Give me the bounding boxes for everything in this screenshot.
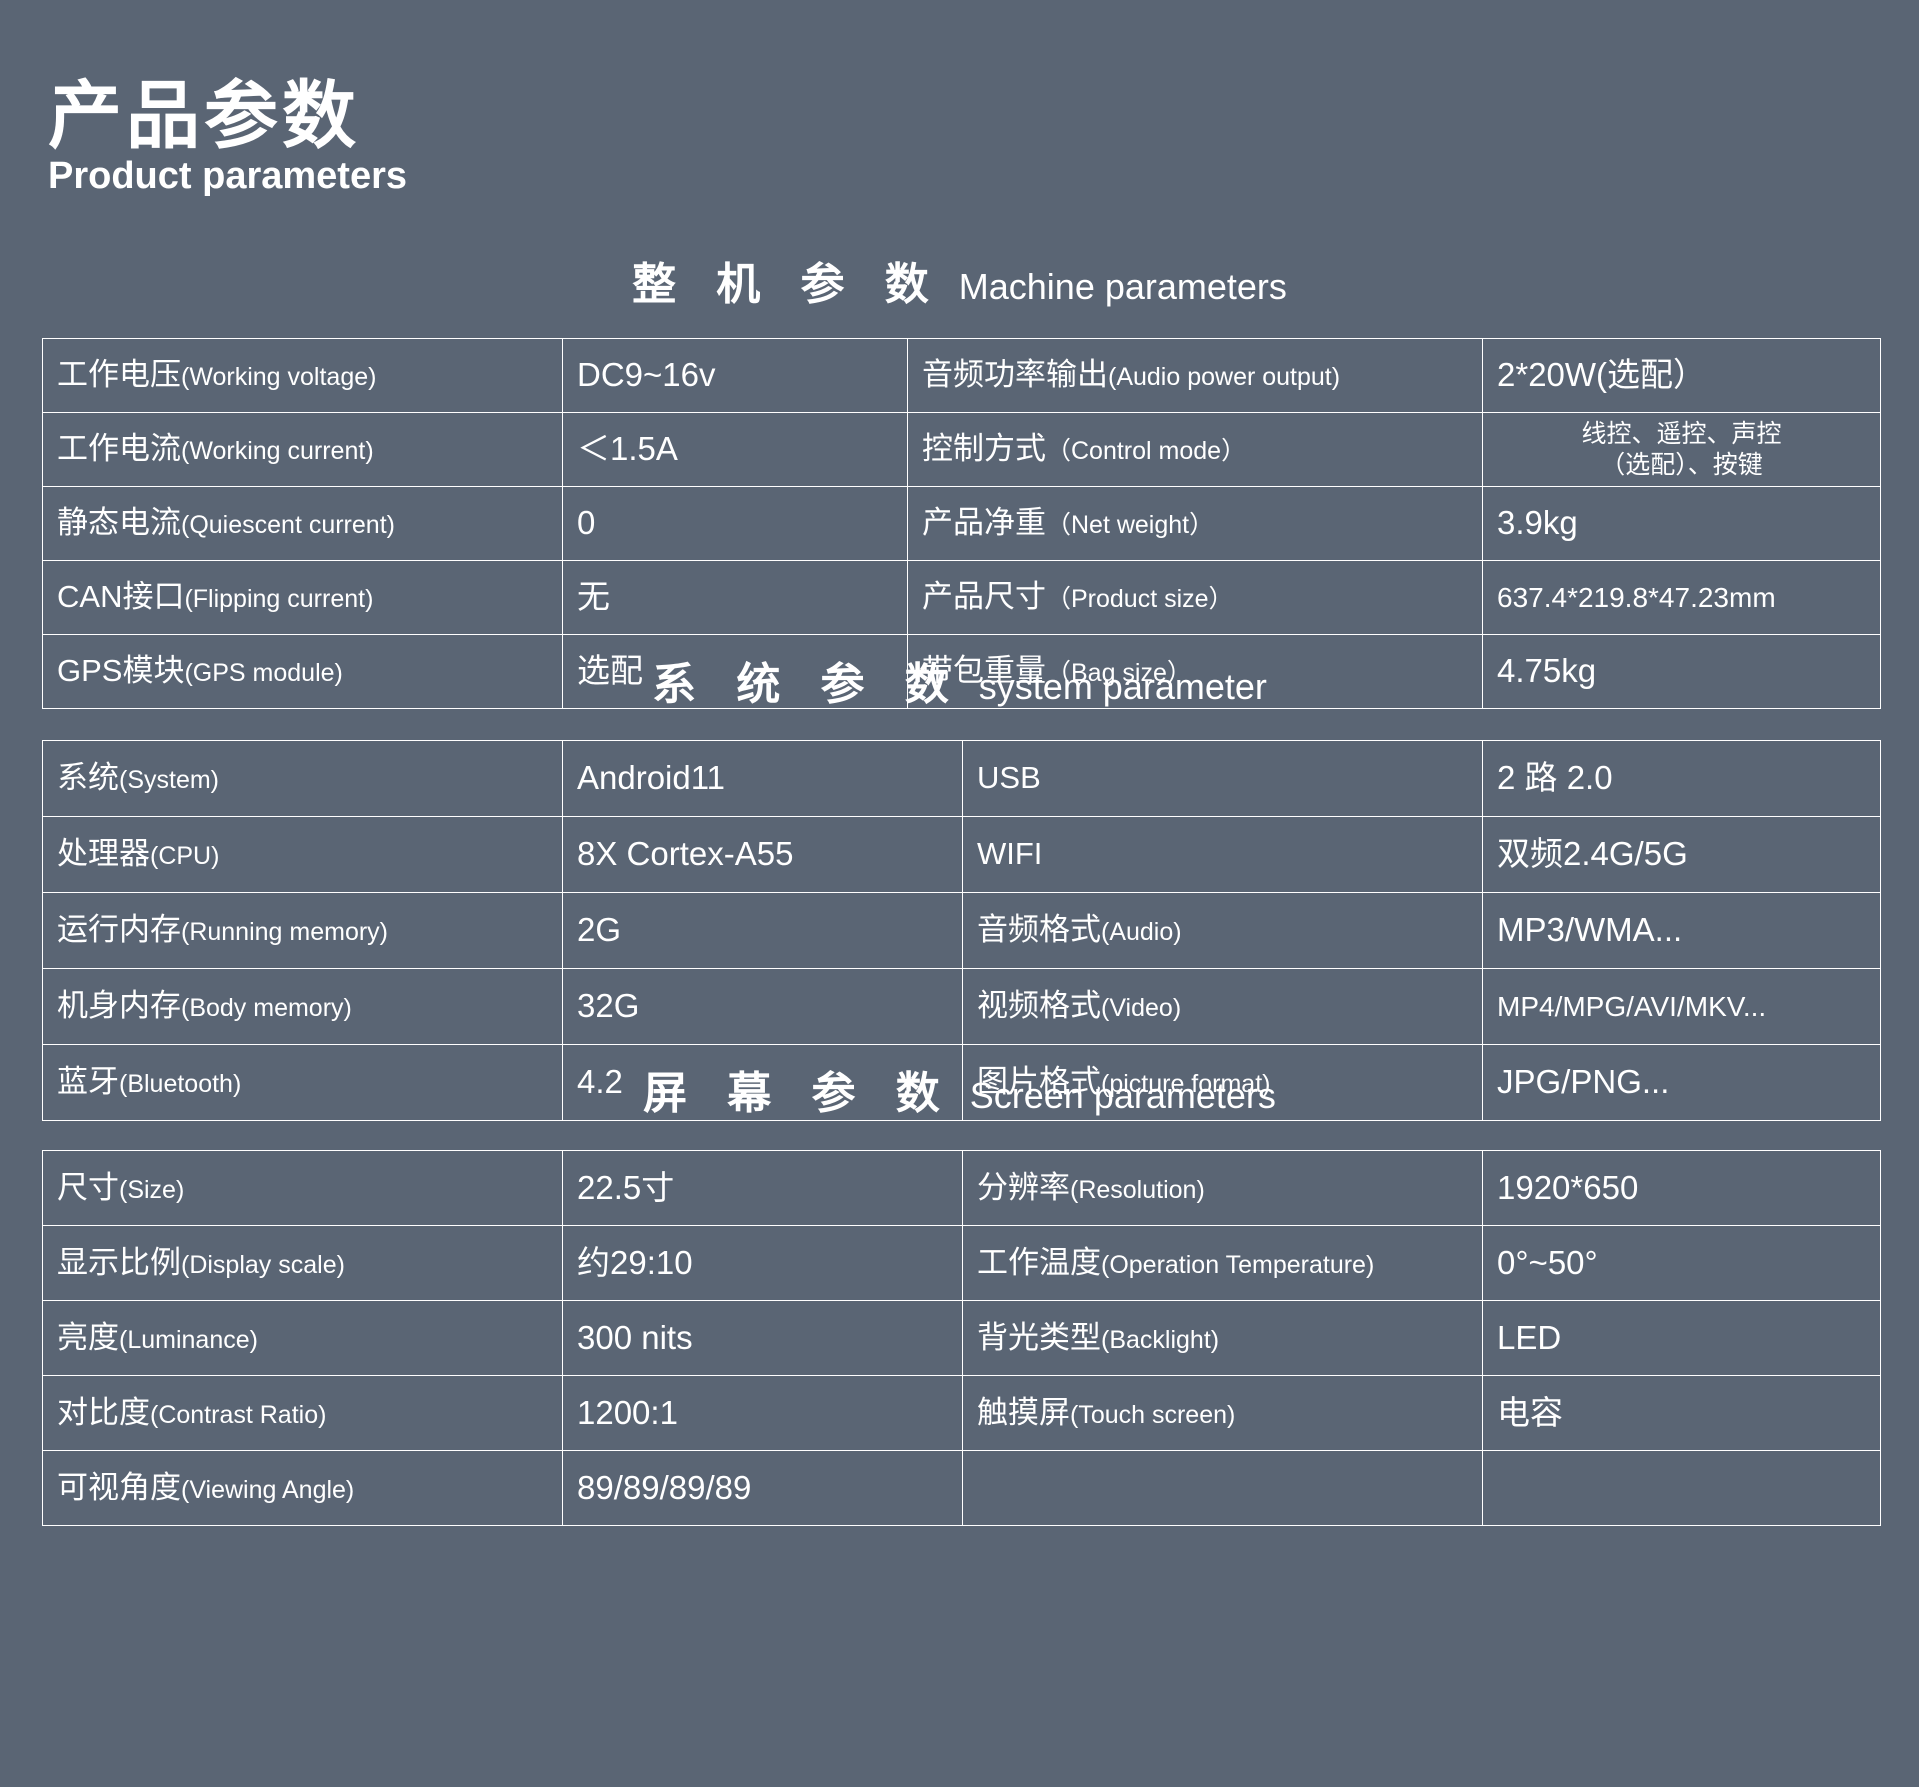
row-value: Android11	[563, 741, 963, 817]
row-label: 工作电流(Working current)	[43, 413, 563, 487]
value-line-2: （选配）、按键	[1497, 450, 1866, 481]
row-label-2: 背光类型(Backlight)	[963, 1301, 1483, 1376]
section-header-machine-cn: 整 机 参 数	[632, 248, 943, 312]
label-cn: 处理器	[57, 836, 150, 871]
table-row: 对比度(Contrast Ratio) 1200:1 触摸屏(Touch scr…	[43, 1376, 1881, 1451]
row-label: 机身内存(Body memory)	[43, 969, 563, 1045]
label-cn: 运行内存	[57, 912, 181, 947]
row-value-2: MP3/WMA...	[1483, 893, 1881, 969]
label-en: (Quiescent current)	[181, 511, 395, 539]
row-value-2: LED	[1483, 1301, 1881, 1376]
table-row: 亮度(Luminance) 300 nits 背光类型(Backlight) L…	[43, 1301, 1881, 1376]
label2-cn: USB	[977, 760, 1041, 795]
label-cn: 系统	[57, 760, 119, 795]
row-value: 300 nits	[563, 1301, 963, 1376]
label-cn: 亮度	[57, 1320, 119, 1355]
table-row: 显示比例(Display scale) 约29:10 工作温度(Operatio…	[43, 1226, 1881, 1301]
label-cn: 静态电流	[57, 505, 181, 540]
value-line-1: 线控、遥控、声控	[1497, 419, 1866, 450]
row-value: 无	[563, 561, 908, 635]
label-en: (Flipping current)	[184, 585, 373, 613]
row-label: 处理器(CPU)	[43, 817, 563, 893]
row-value: DC9~16v	[563, 339, 908, 413]
row-label-2: 触摸屏(Touch screen)	[963, 1376, 1483, 1451]
label-cn: 可视角度	[57, 1470, 181, 1505]
table-row: 工作电流(Working current) ＜1.5A 控制方式（Control…	[43, 413, 1881, 487]
row-label-2: 产品尺寸（Product size）	[908, 561, 1483, 635]
row-value: 32G	[563, 969, 963, 1045]
label-cn: 机身内存	[57, 988, 181, 1023]
row-label-2-empty	[963, 1451, 1483, 1526]
label-en: (Working voltage)	[181, 363, 376, 391]
label-en: (Body memory)	[181, 994, 352, 1022]
row-value: 2G	[563, 893, 963, 969]
label-en: (System)	[119, 766, 219, 794]
row-value-2: 2*20W(选配）	[1483, 339, 1881, 413]
label2-cn: 触摸屏	[977, 1395, 1070, 1430]
section-header-machine-en: Machine parameters	[959, 266, 1287, 308]
row-value-2: MP4/MPG/AVI/MKV...	[1483, 969, 1881, 1045]
row-label: 静态电流(Quiescent current)	[43, 487, 563, 561]
row-value: 89/89/89/89	[563, 1451, 963, 1526]
row-value-2: 0°~50°	[1483, 1226, 1881, 1301]
label-cn: 工作电压	[57, 357, 181, 392]
label2-en: （Net weight）	[1046, 511, 1214, 539]
label2-en: (Touch screen)	[1070, 1401, 1235, 1429]
row-value-2: 2 路 2.0	[1483, 741, 1881, 817]
row-label: 可视角度(Viewing Angle)	[43, 1451, 563, 1526]
row-label-2: 控制方式（Control mode）	[908, 413, 1483, 487]
label2-en: (Backlight)	[1101, 1326, 1219, 1354]
row-value-2: 3.9kg	[1483, 487, 1881, 561]
section-header-system: 系 统 参 数 system parameter	[0, 648, 1919, 712]
table-row: CAN接口(Flipping current) 无 产品尺寸（Product s…	[43, 561, 1881, 635]
label-en: (Luminance)	[119, 1326, 258, 1354]
row-label-2: USB	[963, 741, 1483, 817]
table-row: 可视角度(Viewing Angle) 89/89/89/89	[43, 1451, 1881, 1526]
row-label: 显示比例(Display scale)	[43, 1226, 563, 1301]
table-row: 尺寸(Size) 22.5寸 分辨率(Resolution) 1920*650	[43, 1151, 1881, 1226]
label-cn: 工作电流	[57, 431, 181, 466]
label2-cn: 产品尺寸	[922, 579, 1046, 614]
table-row: 处理器(CPU) 8X Cortex-A55 WIFI 双频2.4G/5G	[43, 817, 1881, 893]
page-title-en: Product parameters	[48, 155, 407, 198]
row-value: ＜1.5A	[563, 413, 908, 487]
table-row: 机身内存(Body memory) 32G 视频格式(Video) MP4/MP…	[43, 969, 1881, 1045]
row-value-2: 637.4*219.8*47.23mm	[1483, 561, 1881, 635]
section-header-screen-en: Screen parameters	[970, 1075, 1276, 1117]
label2-cn: WIFI	[977, 836, 1042, 871]
row-label-2: 音频功率输出(Audio power output)	[908, 339, 1483, 413]
row-value-2-empty	[1483, 1451, 1881, 1526]
product-parameters-page: 产品参数 Product parameters 整 机 参 数 Machine …	[0, 0, 1919, 1787]
label2-cn: 音频功率输出	[922, 357, 1108, 392]
label2-cn: 控制方式	[922, 431, 1046, 466]
row-label: 对比度(Contrast Ratio)	[43, 1376, 563, 1451]
row-label-2: 工作温度(Operation Temperature)	[963, 1226, 1483, 1301]
label-en: (Size)	[119, 1176, 184, 1204]
section-header-screen: 屏 幕 参 数 Screen parameters	[0, 1057, 1919, 1121]
row-label-2: 产品净重（Net weight）	[908, 487, 1483, 561]
row-label: 系统(System)	[43, 741, 563, 817]
label2-cn: 产品净重	[922, 505, 1046, 540]
section-header-system-en: system parameter	[979, 666, 1267, 708]
row-label-2: 分辨率(Resolution)	[963, 1151, 1483, 1226]
label2-cn: 分辨率	[977, 1170, 1070, 1205]
row-value: 22.5寸	[563, 1151, 963, 1226]
label-en: (CPU)	[150, 842, 219, 870]
label-cn: 显示比例	[57, 1245, 181, 1280]
label2-en: (Resolution)	[1070, 1176, 1205, 1204]
page-title: 产品参数 Product parameters	[48, 78, 407, 198]
row-value-2: 电容	[1483, 1376, 1881, 1451]
label2-en: （Control mode）	[1046, 437, 1246, 465]
row-label: 工作电压(Working voltage)	[43, 339, 563, 413]
section-header-machine: 整 机 参 数 Machine parameters	[0, 248, 1919, 312]
screen-parameters-table: 尺寸(Size) 22.5寸 分辨率(Resolution) 1920*650 …	[42, 1150, 1881, 1526]
label2-cn: 视频格式	[977, 988, 1101, 1023]
label2-en: (Audio)	[1101, 918, 1182, 946]
label-en: (Working current)	[181, 437, 374, 465]
label-cn: 对比度	[57, 1395, 150, 1430]
label-cn: CAN接口	[57, 579, 184, 614]
section-header-screen-cn: 屏 幕 参 数	[643, 1057, 954, 1121]
row-label: CAN接口(Flipping current)	[43, 561, 563, 635]
row-label-2: 音频格式(Audio)	[963, 893, 1483, 969]
row-value: 0	[563, 487, 908, 561]
label2-en: （Product size）	[1046, 585, 1234, 613]
table-row: 工作电压(Working voltage) DC9~16v 音频功率输出(Aud…	[43, 339, 1881, 413]
row-value: 8X Cortex-A55	[563, 817, 963, 893]
row-value-2: 1920*650	[1483, 1151, 1881, 1226]
table-row: 系统(System) Android11 USB 2 路 2.0	[43, 741, 1881, 817]
row-value-2: 线控、遥控、声控 （选配）、按键	[1483, 413, 1881, 487]
table-row: 静态电流(Quiescent current) 0 产品净重（Net weigh…	[43, 487, 1881, 561]
label-cn: 尺寸	[57, 1170, 119, 1205]
table-row: 运行内存(Running memory) 2G 音频格式(Audio) MP3/…	[43, 893, 1881, 969]
row-label-2: WIFI	[963, 817, 1483, 893]
label-en: (Viewing Angle)	[181, 1476, 354, 1504]
row-value: 约29:10	[563, 1226, 963, 1301]
label-en: (Running memory)	[181, 918, 388, 946]
row-label-2: 视频格式(Video)	[963, 969, 1483, 1045]
label2-en: (Video)	[1101, 994, 1181, 1022]
label2-en: (Audio power output)	[1108, 363, 1340, 391]
label2-cn: 背光类型	[977, 1320, 1101, 1355]
row-value: 1200:1	[563, 1376, 963, 1451]
row-label: 尺寸(Size)	[43, 1151, 563, 1226]
label-en: (Display scale)	[181, 1251, 345, 1279]
row-label: 亮度(Luminance)	[43, 1301, 563, 1376]
label-en: (Contrast Ratio)	[150, 1401, 326, 1429]
section-header-system-cn: 系 统 参 数	[652, 648, 963, 712]
label2-cn: 工作温度	[977, 1245, 1101, 1280]
row-label: 运行内存(Running memory)	[43, 893, 563, 969]
label2-en: (Operation Temperature)	[1101, 1251, 1374, 1279]
page-title-cn: 产品参数	[48, 78, 407, 153]
row-value-2: 双频2.4G/5G	[1483, 817, 1881, 893]
label2-cn: 音频格式	[977, 912, 1101, 947]
